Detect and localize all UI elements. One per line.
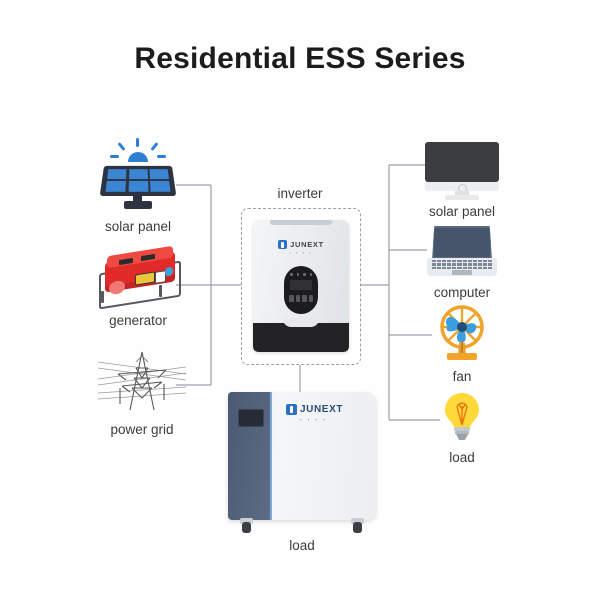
inverter-button-row[interactable] — [289, 295, 313, 302]
laptop-icon — [427, 226, 497, 276]
generator-leg — [101, 291, 104, 303]
keyboard-row — [432, 260, 492, 262]
battery-body: JUNEXT ▪ ▪ ▪ ▪ — [228, 392, 376, 520]
inverter-button[interactable] — [289, 295, 294, 302]
keyboard-row — [432, 267, 492, 269]
inverter-display-panel[interactable] — [284, 266, 318, 314]
inverter-brand: JUNEXT — [253, 240, 349, 249]
panel-cell-grid — [106, 169, 171, 192]
label-power-grid: power grid — [62, 422, 222, 437]
sun-icon — [128, 152, 148, 162]
solar-panel-icon — [98, 136, 178, 212]
inverter-led — [310, 273, 313, 276]
caster-wheel — [242, 522, 251, 533]
inverter-icon: JUNEXT ▪ ▪ ▪ ▪ — [253, 220, 349, 352]
monitor-stand — [445, 195, 479, 200]
panel-cell — [106, 181, 126, 192]
inverter-brand-subtext: ▪ ▪ ▪ ▪ — [253, 250, 349, 255]
laptop-trackpad — [452, 270, 472, 275]
sun-ray — [136, 138, 139, 147]
inverter-button[interactable] — [296, 295, 301, 302]
inverter-base-panel — [253, 323, 349, 352]
light-bulb-icon — [440, 391, 484, 445]
panel-cell — [150, 181, 170, 192]
inverter-boundary[interactable]: JUNEXT ▪ ▪ ▪ ▪ — [241, 208, 361, 365]
label-battery: load — [222, 538, 382, 553]
battery-side-panel — [228, 392, 272, 520]
sun-ray — [157, 155, 166, 158]
diagram-canvas: Residential ESS Series — [0, 0, 600, 600]
inverter-lcd-screen — [290, 280, 312, 290]
monitor-screen — [425, 142, 499, 182]
laptop-screen — [432, 226, 492, 259]
inverter-brand-text: JUNEXT — [290, 240, 324, 249]
panel-cell — [149, 169, 168, 179]
inverter-button[interactable] — [309, 295, 314, 302]
battery-caster — [351, 518, 364, 533]
panel-cell — [128, 181, 148, 192]
junext-logo-icon — [286, 404, 297, 415]
battery-brand: JUNEXT — [286, 404, 343, 415]
label-inverter: inverter — [220, 186, 380, 201]
page-title: Residential ESS Series — [0, 42, 600, 76]
panel-frame — [100, 166, 177, 196]
inverter-button[interactable] — [302, 295, 307, 302]
label-monitor: solar panel — [382, 204, 542, 219]
junext-logo-icon — [278, 240, 287, 249]
battery-brand-text: JUNEXT — [300, 404, 343, 415]
panel-cell — [107, 169, 126, 179]
label-computer: computer — [382, 285, 542, 300]
generator-icon — [97, 251, 183, 309]
label-solar-panel: solar panel — [58, 219, 218, 234]
power-grid-pylon-icon — [96, 348, 188, 414]
sun-ray — [117, 142, 125, 151]
battery-cabinet-icon: JUNEXT ▪ ▪ ▪ ▪ — [228, 392, 376, 527]
inverter-led — [290, 273, 293, 276]
inverter-led-row — [290, 273, 312, 276]
inverter-led — [303, 273, 306, 276]
inverter-led — [297, 273, 300, 276]
laptop-keyboard — [432, 260, 492, 269]
sun-ray — [150, 142, 158, 151]
generator-leg — [159, 285, 162, 297]
panel-cell — [129, 169, 148, 179]
desktop-monitor-icon — [425, 142, 499, 200]
sun-ray — [110, 155, 119, 158]
label-generator: generator — [58, 313, 218, 328]
keyboard-row — [432, 263, 492, 265]
battery-brand-subtext: ▪ ▪ ▪ ▪ — [300, 417, 327, 422]
label-bulb: load — [382, 450, 542, 465]
fan-icon — [432, 305, 492, 367]
caster-wheel — [353, 522, 362, 533]
battery-caster — [240, 518, 253, 533]
panel-base — [124, 201, 152, 209]
label-fan: fan — [382, 369, 542, 384]
battery-display — [238, 409, 264, 427]
inverter-top-vent — [270, 220, 332, 225]
